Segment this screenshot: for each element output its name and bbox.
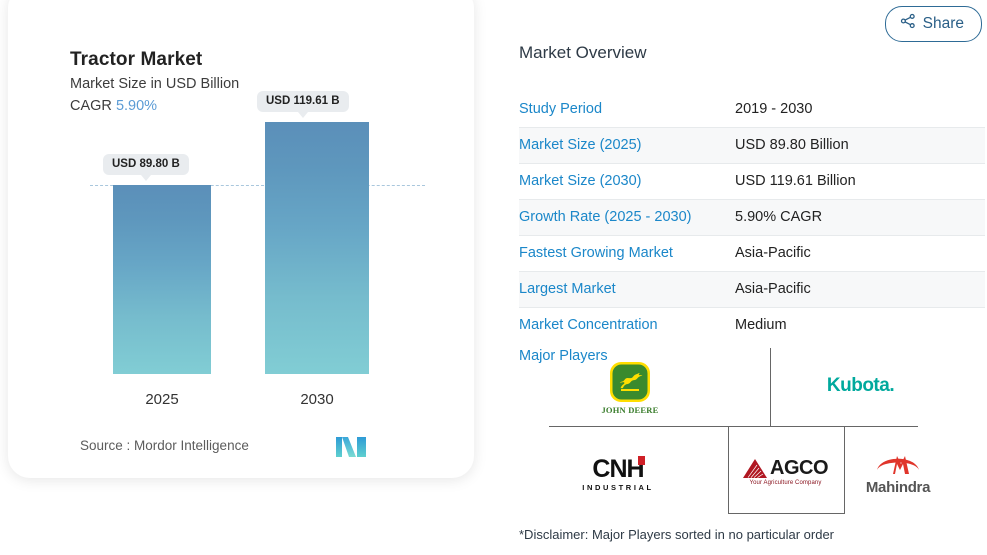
chart-cagr: CAGR 5.90%: [70, 98, 157, 114]
grid-hline-left: [549, 426, 728, 427]
table-row: Market Concentration Medium: [519, 308, 985, 344]
bar-chart-plot: USD 89.80 B USD 119.61 B 2025 2030: [70, 126, 420, 416]
chart-card: Tractor Market Market Size in USD Billio…: [8, 0, 474, 478]
chart-subtitle: Market Size in USD Billion: [70, 76, 239, 92]
mahindra-wordmark: Mahindra: [866, 479, 930, 496]
mordor-intelligence-logo: [336, 436, 366, 463]
chart-source: Source : Mordor Intelligence: [80, 438, 249, 453]
row-value: 5.90% CAGR: [735, 200, 985, 236]
table-row: Study Period 2019 - 2030: [519, 92, 985, 128]
table-row: Growth Rate (2025 - 2030) 5.90% CAGR: [519, 200, 985, 236]
cnh-wordmark: CNH: [592, 455, 643, 483]
row-value: USD 89.80 Billion: [735, 128, 985, 164]
chart-cagr-label: CAGR: [70, 98, 112, 114]
grid-hline-right: [843, 426, 918, 427]
kubota-wordmark: Kubota.: [827, 375, 894, 397]
row-key: Growth Rate (2025 - 2030): [519, 200, 735, 236]
chart-title: Tractor Market: [70, 49, 202, 71]
table-row: Largest Market Asia-Pacific: [519, 272, 985, 308]
chart-card-inner: Tractor Market Market Size in USD Billio…: [8, 0, 474, 478]
cnh-red-dot: [638, 456, 645, 465]
row-value: Medium: [735, 308, 985, 344]
player-logo-mahindra: Mahindra: [848, 442, 948, 504]
row-value: Asia-Pacific: [735, 272, 985, 308]
row-key: Market Concentration: [519, 308, 735, 344]
row-key: Largest Market: [519, 272, 735, 308]
players-disclaimer: *Disclaimer: Major Players sorted in no …: [519, 527, 834, 542]
bar-2030[interactable]: [265, 122, 369, 374]
agco-wordmark: AGCO: [770, 458, 828, 478]
x-axis-label-2025: 2025: [113, 391, 211, 408]
chart-cagr-value: 5.90%: [116, 98, 157, 114]
grid-vline-top: [770, 348, 771, 426]
market-overview-table: Study Period 2019 - 2030 Market Size (20…: [519, 92, 985, 343]
table-row: Market Size (2030) USD 119.61 Billion: [519, 164, 985, 200]
row-value: 2019 - 2030: [735, 92, 985, 128]
bar-2025[interactable]: [113, 185, 211, 374]
share-button[interactable]: Share: [885, 6, 982, 42]
agco-mark: [743, 459, 767, 478]
row-value: USD 119.61 Billion: [735, 164, 985, 200]
major-players-grid: JOHN DEERE Kubota. CNH INDUSTRIAL: [623, 346, 918, 512]
row-key: Study Period: [519, 92, 735, 128]
row-value: Asia-Pacific: [735, 236, 985, 272]
player-logo-kubota: Kubota.: [803, 364, 918, 408]
table-row: Market Size (2025) USD 89.80 Billion: [519, 128, 985, 164]
mahindra-mark: [875, 450, 921, 478]
bar-label-2025: USD 89.80 B: [103, 154, 189, 175]
row-key: Market Size (2030): [519, 164, 735, 200]
player-logo-cnh-industrial: CNH INDUSTRIAL: [553, 444, 683, 504]
player-logo-agco: AGCO Your Agriculture Company: [728, 446, 843, 498]
share-button-label: Share: [923, 15, 964, 33]
bar-label-2030: USD 119.61 B: [257, 91, 349, 112]
row-key: Fastest Growing Market: [519, 236, 735, 272]
john-deere-wordmark: JOHN DEERE: [601, 405, 658, 415]
share-nodes-icon: [900, 13, 916, 34]
john-deere-mark: [609, 361, 651, 403]
agco-tagline: Your Agriculture Company: [750, 480, 822, 486]
market-overview-panel: Share Market Overview Study Period 2019 …: [519, 0, 987, 555]
row-key: Market Size (2025): [519, 128, 735, 164]
market-overview-title: Market Overview: [519, 43, 647, 63]
x-axis-label-2030: 2030: [265, 391, 369, 408]
table-row: Fastest Growing Market Asia-Pacific: [519, 236, 985, 272]
player-logo-john-deere: JOHN DEERE: [575, 352, 685, 424]
cnh-industrial-sub: INDUSTRIAL: [582, 483, 653, 492]
